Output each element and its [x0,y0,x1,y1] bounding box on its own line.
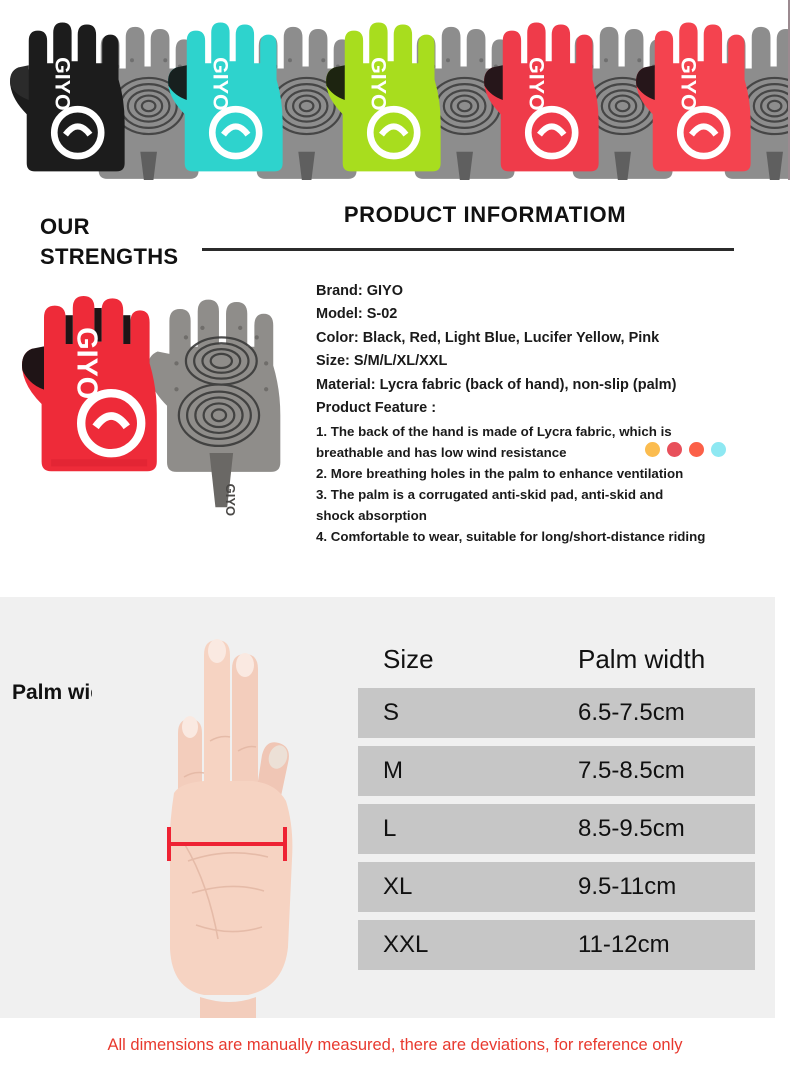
cell-palm-width: 11-12cm [548,931,755,959]
svg-text:GIYO: GIYO [208,57,232,111]
column-header-size: Size [358,644,548,675]
spec-brand: Brand: GIYO [316,280,786,303]
size-chart-table: Size Palm width S 6.5-7.5cm M 7.5-8.5cm … [358,630,755,978]
heading-divider-rule [202,248,734,251]
column-header-palm-width: Palm width [548,644,755,675]
svg-text:GIYO: GIYO [366,57,390,111]
cell-size: XXL [358,931,548,959]
cell-palm-width: 8.5-9.5cm [548,815,755,843]
strengths-and-info-section: OUR STRENGTHS PRODUCT INFORMATIOM [0,180,790,597]
table-row: XXL 11-12cm [358,920,755,970]
product-information-heading: PRODUCT INFORMATIOM [0,202,790,228]
cell-palm-width: 6.5-7.5cm [548,699,755,727]
cell-size: M [358,757,548,785]
svg-text:GIYO: GIYO [50,57,74,111]
table-header-row: Size Palm width [358,630,755,688]
disclaimer-footer: All dimensions are manually measured, th… [0,1018,790,1072]
spec-color: Color: Black, Red, Light Blue, Lucifer Y… [316,327,786,350]
glove-row-illustration: GIYO [0,0,790,180]
spec-size: Size: S/M/L/XL/XXL [316,350,786,373]
hero-glove-illustration: GIYO GIYO [6,268,306,588]
feature-3a: 3. The palm is a corrugated anti-skid pa… [316,484,786,505]
cell-size: S [358,699,548,727]
glove-color-banner: GIYO [0,0,790,180]
feature-4: 4. Comfortable to wear, suitable for lon… [316,526,786,547]
svg-text:GIYO: GIYO [676,57,700,111]
feature-1a: 1. The back of the hand is made of Lycra… [316,421,786,442]
our-strengths-line2: STRENGTHS [40,242,178,272]
size-chart-section: Palm width [0,597,775,1018]
svg-text:GIYO: GIYO [524,57,548,111]
disclaimer-text: All dimensions are manually measured, th… [107,1036,682,1055]
table-row: L 8.5-9.5cm [358,804,755,854]
table-row: XL 9.5-11cm [358,862,755,912]
table-row: M 7.5-8.5cm [358,746,755,796]
product-info-text-block: Brand: GIYO Model: S-02 Color: Black, Re… [316,280,786,547]
spec-feature-heading: Product Feature : [316,397,786,420]
spec-model: Model: S-02 [316,303,786,326]
feature-2: 2. More breathing holes in the palm to e… [316,463,786,484]
svg-text:GIYO: GIYO [71,327,103,399]
spec-material: Material: Lycra fabric (back of hand), n… [316,374,786,397]
svg-text:GIYO: GIYO [223,484,238,516]
cell-size: XL [358,873,548,901]
feature-3b: shock absorption [316,505,786,526]
cell-size: L [358,815,548,843]
feature-1b: breathable and has low wind resistance [316,442,786,463]
product-listing-page: GIYO [0,0,790,1072]
hand-measurement-illustration [92,611,360,1018]
cell-palm-width: 9.5-11cm [548,873,755,901]
table-row: S 6.5-7.5cm [358,688,755,738]
cell-palm-width: 7.5-8.5cm [548,757,755,785]
